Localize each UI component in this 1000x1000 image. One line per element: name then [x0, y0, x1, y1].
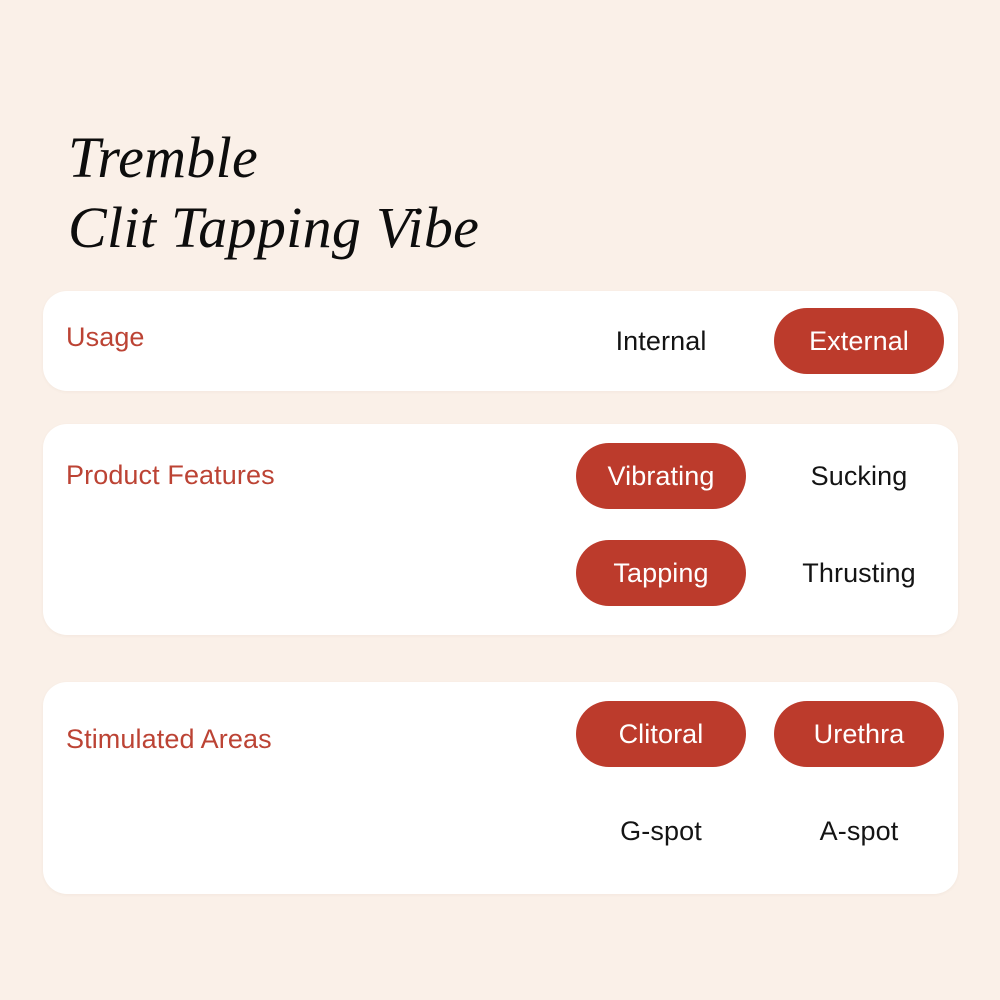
- product-title-line-1: Tremble: [68, 123, 888, 193]
- option-chip[interactable]: Urethra: [774, 701, 944, 767]
- option-chip[interactable]: Sucking: [774, 443, 944, 509]
- spec-card-label: Usage: [66, 322, 145, 353]
- spec-card-product-features: Product Features Vibrating Sucking Tappi…: [43, 424, 958, 635]
- option-grid: Clitoral Urethra G-spot A-spot: [562, 701, 958, 864]
- spec-card-usage: Usage Internal External: [43, 291, 958, 391]
- spec-card-label: Product Features: [66, 460, 275, 491]
- option-chip[interactable]: Thrusting: [774, 540, 944, 606]
- option-chip[interactable]: Vibrating: [576, 443, 746, 509]
- page-title: Tremble Clit Tapping Vibe: [68, 123, 888, 263]
- option-chip[interactable]: External: [774, 308, 944, 374]
- option-chip[interactable]: G-spot: [576, 798, 746, 864]
- product-title-line-2: Clit Tapping Vibe: [68, 193, 888, 263]
- option-chip[interactable]: Tapping: [576, 540, 746, 606]
- option-chip[interactable]: Internal: [576, 308, 746, 374]
- option-chip[interactable]: A-spot: [774, 798, 944, 864]
- option-grid: Internal External: [562, 308, 958, 374]
- option-grid: Vibrating Sucking Tapping Thrusting: [562, 443, 958, 606]
- option-chip[interactable]: Clitoral: [576, 701, 746, 767]
- spec-card-label: Stimulated Areas: [66, 724, 272, 755]
- spec-card-stimulated-areas: Stimulated Areas Clitoral Urethra G-spot…: [43, 682, 958, 894]
